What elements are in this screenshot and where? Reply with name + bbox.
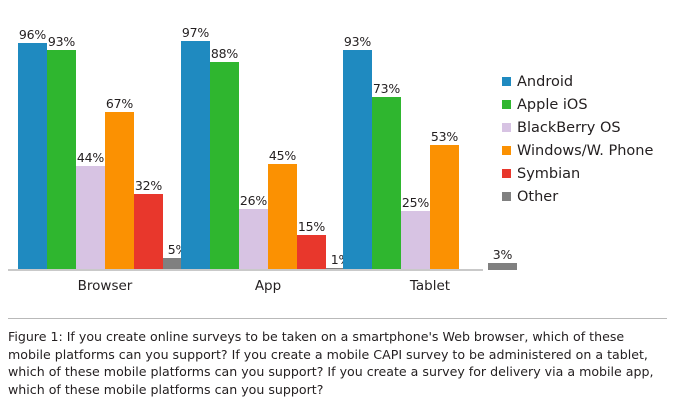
legend-label: Apple iOS: [517, 97, 588, 113]
legend-item[interactable]: BlackBerry OS: [502, 116, 672, 139]
bar-value-label: 88%: [211, 47, 238, 60]
legend-color-swatch: [502, 123, 511, 132]
legend-item[interactable]: Windows/W. Phone: [502, 139, 672, 162]
bar[interactable]: [105, 112, 134, 270]
figure-container: 96%93%44%67%32%5%97%88%26%45%15%1%93%73%…: [0, 0, 675, 407]
legend-label: Other: [517, 189, 558, 205]
bar[interactable]: [343, 50, 372, 270]
bar-value-label: 67%: [106, 97, 133, 110]
bar-slot: 15%: [297, 8, 326, 270]
bar-slot: 25%: [401, 8, 430, 270]
bar-value-label: 53%: [431, 130, 458, 143]
bar[interactable]: [372, 97, 401, 270]
bar-slot: [459, 8, 488, 270]
bar-value-label: 3%: [493, 248, 512, 261]
bar-value-label: 93%: [344, 35, 371, 48]
bar-value-label: 45%: [269, 149, 296, 162]
bar[interactable]: [488, 263, 517, 270]
bar[interactable]: [134, 194, 163, 270]
bar-slot: 97%: [181, 8, 210, 270]
bar-value-label: 96%: [19, 28, 46, 41]
bar-group-bars: 97%88%26%45%15%1%: [181, 8, 355, 270]
bar-value-label: 26%: [240, 194, 267, 207]
bar-slot: 53%: [430, 8, 459, 270]
bar[interactable]: [430, 145, 459, 270]
bar-group-bars: 96%93%44%67%32%5%: [18, 8, 192, 270]
legend-item[interactable]: Android: [502, 70, 672, 93]
bar-value-label: 44%: [77, 151, 104, 164]
legend-label: Windows/W. Phone: [517, 143, 653, 159]
bar-slot: 93%: [47, 8, 76, 270]
bar-slot: 88%: [210, 8, 239, 270]
legend-label: Android: [517, 74, 573, 90]
bar-value-label: 73%: [373, 82, 400, 95]
chart-legend: AndroidApple iOSBlackBerry OSWindows/W. …: [502, 70, 672, 208]
legend-label: Symbian: [517, 166, 580, 182]
caption-divider: [8, 318, 667, 319]
legend-item[interactable]: Symbian: [502, 162, 672, 185]
bar[interactable]: [268, 164, 297, 270]
bar-value-label: 32%: [135, 179, 162, 192]
x-axis-category-label: App: [181, 278, 355, 294]
bar-value-label: 93%: [48, 35, 75, 48]
legend-label: BlackBerry OS: [517, 120, 621, 136]
bar[interactable]: [181, 41, 210, 270]
x-axis-category-label: Browser: [18, 278, 192, 294]
bar-slot: 67%: [105, 8, 134, 270]
legend-color-swatch: [502, 169, 511, 178]
bar-group-bars: 93%73%25%53%3%: [343, 8, 517, 270]
x-axis-category-label: Tablet: [343, 278, 517, 294]
legend-color-swatch: [502, 192, 511, 201]
legend-color-swatch: [502, 77, 511, 86]
plot-area: 96%93%44%67%32%5%97%88%26%45%15%1%93%73%…: [8, 8, 488, 270]
bar-slot: 96%: [18, 8, 47, 270]
x-axis-baseline: [8, 269, 483, 271]
bar[interactable]: [76, 166, 105, 270]
legend-item[interactable]: Other: [502, 185, 672, 208]
bar[interactable]: [297, 235, 326, 270]
bar-value-label: 25%: [402, 196, 429, 209]
legend-item[interactable]: Apple iOS: [502, 93, 672, 116]
bar[interactable]: [18, 43, 47, 270]
bar-value-label: 97%: [182, 26, 209, 39]
bar-slot: 32%: [134, 8, 163, 270]
bar-slot: 45%: [268, 8, 297, 270]
bar-slot: 26%: [239, 8, 268, 270]
bar[interactable]: [401, 211, 430, 270]
bar[interactable]: [239, 209, 268, 270]
legend-color-swatch: [502, 100, 511, 109]
bar-slot: 93%: [343, 8, 372, 270]
figure-caption: Figure 1: If you create online surveys t…: [8, 328, 663, 398]
bar-slot: 44%: [76, 8, 105, 270]
bar[interactable]: [47, 50, 76, 270]
bar[interactable]: [210, 62, 239, 270]
legend-color-swatch: [502, 146, 511, 155]
bar-value-label: 15%: [298, 220, 325, 233]
bar-slot: 73%: [372, 8, 401, 270]
